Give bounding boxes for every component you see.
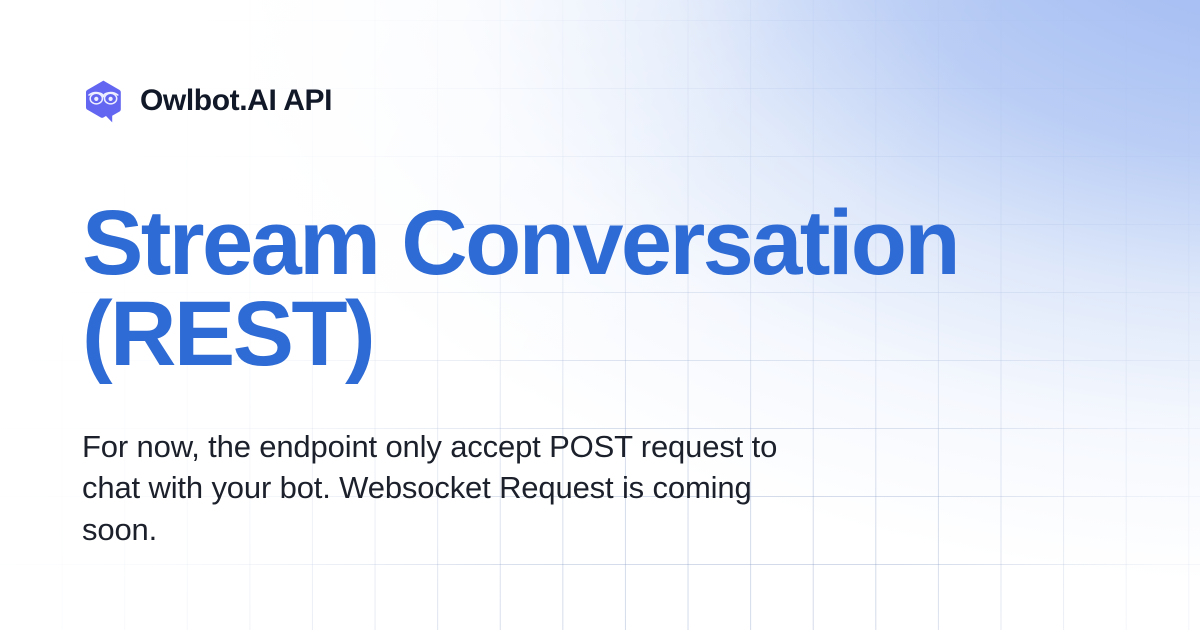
brand-name: Owlbot.AI API	[140, 86, 332, 116]
og-card: Owlbot.AI API Stream Conversation (REST)…	[0, 0, 1200, 630]
card-content: Owlbot.AI API Stream Conversation (REST)…	[0, 0, 1200, 630]
owl-logo-icon	[82, 79, 126, 123]
brand-header: Owlbot.AI API	[82, 78, 1118, 124]
page-description: For now, the endpoint only accept POST r…	[82, 426, 804, 550]
page-title: Stream Conversation (REST)	[82, 198, 1082, 380]
